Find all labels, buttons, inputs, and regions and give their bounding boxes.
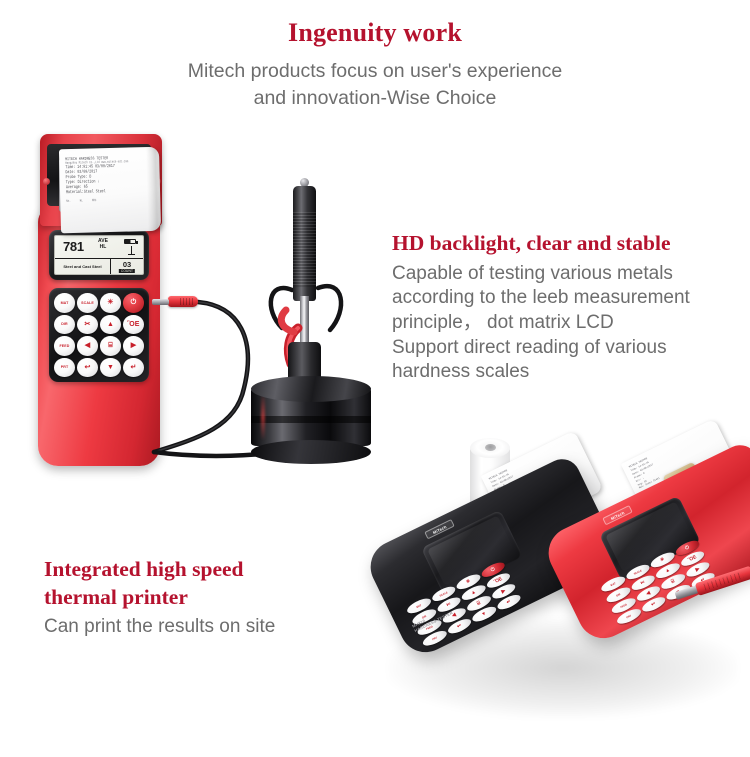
feature-printer: Integrated high speed thermal printer Ca… — [44, 556, 374, 640]
key-icon: ▶ — [695, 566, 701, 572]
key-glyph-13[interactable]: ↩ — [77, 358, 98, 378]
receipt-foot-3: HRC — [92, 199, 97, 204]
key-glyph-5[interactable]: ✂ — [77, 315, 98, 335]
feature-backlight-line-3: principle， dot matrix LCD — [392, 311, 744, 336]
paper-roll-core-hole — [485, 444, 496, 451]
key-icon: ⌸ — [671, 579, 676, 585]
printed-receipt: MITECH HARDNESS TESTER Hangzhou Mitech C… — [59, 147, 161, 234]
key-icon: ↵ — [506, 599, 512, 605]
feature-backlight-line-5: hardness scales — [392, 360, 744, 385]
feature-printer-line-1: Can print the results on site — [44, 615, 374, 640]
feature-printer-title-line-2: thermal printer — [44, 584, 374, 612]
key-glyph-6[interactable]: ▲ — [100, 315, 121, 335]
lcd-count-value: 03 — [123, 260, 131, 269]
key-icon: ✂ — [640, 580, 646, 586]
key-icon: ▶ — [501, 588, 507, 594]
key-icon: ☀ — [659, 557, 665, 563]
connector-ribs — [180, 298, 194, 305]
feature-backlight-line-1: Capable of testing various metals — [392, 262, 744, 287]
probe-support-ring-base — [251, 376, 371, 458]
key-icon: ▲ — [664, 567, 671, 574]
key-icon: ⌸ — [108, 342, 112, 349]
key-icon: ☀ — [465, 579, 471, 585]
probe-base-bottom — [251, 440, 371, 464]
receipt-foot-1: No. — [66, 200, 71, 205]
lcd-top-row: 781 AVE HL — [55, 236, 143, 258]
feature-printer-title: Integrated high speed thermal printer — [44, 556, 374, 611]
lcd-count: 03 COUNT — [111, 259, 143, 274]
probe-base-top — [251, 376, 371, 402]
key-icon: ▲ — [107, 321, 114, 328]
keypad[interactable]: MATSCALE☀⏻DIR✂▲ὋEFEED◀⌸▶PRT↩▼↵ — [49, 288, 149, 382]
key-glyph-2[interactable]: ☀ — [100, 293, 121, 313]
printer-knob-left[interactable] — [43, 178, 50, 185]
hero-section: Ingenuity work Mitech products focus on … — [0, 18, 750, 112]
probe-connector-plug — [168, 296, 198, 307]
key-icon: ▶ — [131, 342, 136, 349]
device-pair-group: MITECH TESTER Time: 14:01:45 Date: 03/08… — [378, 432, 750, 732]
probe-direction-icon — [131, 246, 133, 255]
key-glyph-10[interactable]: ⌸ — [100, 336, 121, 356]
key-feed[interactable]: FEED — [54, 336, 75, 356]
feature-printer-body: Can print the results on site — [44, 615, 374, 640]
lcd-count-label: COUNT — [119, 269, 135, 273]
leeb-impact-probe — [248, 168, 376, 478]
feature-printer-title-line-1: Integrated high speed — [44, 556, 374, 584]
receipt-line-6: Material:Steel Steel — [66, 187, 154, 196]
key-prt[interactable]: PRT — [54, 358, 75, 378]
key-icon: ⏻ — [131, 299, 137, 306]
key-icon: ✂ — [85, 321, 91, 328]
key-icon: ◀ — [645, 591, 651, 597]
page-title: Ingenuity work — [0, 18, 750, 48]
key-icon: ◀ — [85, 342, 90, 349]
lcd-reading-value: 781 — [63, 239, 84, 254]
receipt-foot-2: HL — [80, 199, 83, 204]
lcd-unit-line-2: HL — [98, 245, 108, 251]
key-mat[interactable]: MAT — [54, 293, 75, 313]
receipt-footer: No. HL HRC — [66, 197, 154, 203]
key-icon: ὋE — [687, 555, 697, 563]
product-feature-page: Ingenuity work Mitech products focus on … — [0, 0, 750, 757]
lcd-material-label: Steel and Cast Steel — [55, 259, 111, 274]
key-icon: ὋE — [127, 321, 139, 328]
key-icon: ↵ — [131, 364, 137, 371]
key-icon: ⏻ — [684, 545, 690, 551]
feature-backlight-line-2: according to the leeb measurement — [392, 286, 744, 311]
hero-subtitle-line-1: Mitech products focus on user's experien… — [0, 58, 750, 85]
lcd-bezel: 781 AVE HL Steel and Cast Steel 03 COUNT — [49, 230, 149, 280]
key-icon: ▲ — [470, 589, 477, 596]
probe-base-highlight — [261, 394, 265, 440]
key-scale[interactable]: SCALE — [77, 293, 98, 313]
key-icon: ↩ — [456, 623, 462, 629]
key-icon: ⏻ — [490, 567, 496, 573]
key-icon: ↩ — [85, 364, 91, 371]
feature-backlight-line-4: Support direct reading of various — [392, 336, 744, 361]
lcd-bottom-row: Steel and Cast Steel 03 COUNT — [55, 258, 143, 274]
key-icon: ▼ — [107, 364, 114, 371]
battery-icon — [124, 239, 136, 244]
hero-subtitle-line-2: and innovation-Wise Choice — [0, 85, 750, 112]
probe-base-seam — [251, 416, 371, 423]
lcd-unit: AVE HL — [98, 239, 108, 251]
key-icon: ⌸ — [476, 601, 481, 607]
lcd-screen: 781 AVE HL Steel and Cast Steel 03 COUNT — [54, 235, 144, 275]
key-glyph-9[interactable]: ◀ — [77, 336, 98, 356]
key-icon: ▼ — [481, 611, 488, 618]
feature-backlight-body: Capable of testing various metals accord… — [392, 262, 744, 385]
thermal-printer-bay: MITECH HARDNESS TESTER Hangzhou Mitech C… — [40, 134, 162, 226]
key-glyph-14[interactable]: ▼ — [100, 358, 121, 378]
hero-subtitle: Mitech products focus on user's experien… — [0, 58, 750, 112]
key-dir[interactable]: DIR — [54, 315, 75, 335]
key-icon: ☀ — [107, 299, 113, 306]
key-icon: ↩ — [651, 601, 657, 607]
feature-backlight-title: HD backlight, clear and stable — [392, 230, 744, 258]
key-icon: ὋE — [493, 577, 503, 585]
feature-backlight: HD backlight, clear and stable Capable o… — [392, 230, 744, 385]
